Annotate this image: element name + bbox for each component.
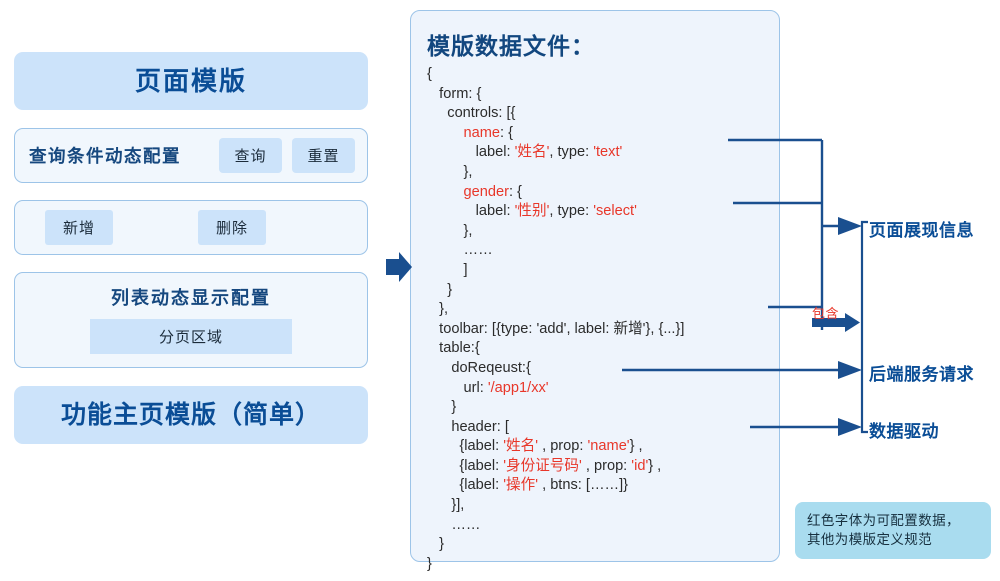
code-line: } (427, 398, 779, 418)
code-line: …… (427, 516, 779, 536)
diagram-canvas: 页面模版 查询条件动态配置 查询 重置 新增 删除 列表动态显示配置 分页区域 … (0, 0, 1000, 581)
toolbar-card: 新增 删除 (14, 200, 368, 255)
flow-block-arrow-icon (386, 252, 412, 282)
code-line: url: '/app1/xx' (427, 379, 779, 399)
arrow-head-display-info-icon (838, 217, 862, 235)
code-line: } (427, 555, 779, 575)
page-template-mockup: 页面模版 查询条件动态配置 查询 重置 新增 删除 列表动态显示配置 分页区域 … (14, 52, 368, 444)
code-line: } (427, 535, 779, 555)
code-line: {label: '姓名' , prop: 'name'} , (427, 437, 779, 457)
delete-button[interactable]: 删除 (198, 210, 266, 245)
code-line: }, (427, 300, 779, 320)
code-line: doReqeust:{ (427, 359, 779, 379)
code-line: …… (427, 241, 779, 261)
legend-note: 红色字体为可配置数据， 其他为模版定义规范 (795, 502, 991, 559)
arrow-head-backend-request-icon (838, 361, 862, 379)
legend-note-line1: 红色字体为可配置数据， (807, 511, 981, 530)
list-config-title: 列表动态显示配置 (15, 284, 367, 310)
query-config-card: 查询条件动态配置 查询 重置 (14, 128, 368, 183)
code-line: }, (427, 222, 779, 242)
code-line: table:{ (427, 339, 779, 359)
code-line: label: '性别', type: 'select' (427, 202, 779, 222)
code-line: header: [ (427, 418, 779, 438)
code-line: label: '姓名', type: 'text' (427, 143, 779, 163)
query-config-title: 查询条件动态配置 (29, 143, 209, 168)
template-data-file-title: 模版数据文件： (427, 27, 779, 61)
annotation-data-driven: 数据驱动 (869, 417, 939, 442)
annotation-display-info: 页面展现信息 (869, 216, 974, 241)
code-line: form: { (427, 85, 779, 105)
contains-label: 包含 (812, 303, 839, 322)
code-line: }, (427, 163, 779, 183)
template-data-file-panel: 模版数据文件： { form: { controls: [{ name: { l… (410, 10, 780, 562)
page-template-header-banner: 页面模版 (14, 52, 368, 110)
code-line: {label: '身份证号码' , prop: 'id'} , (427, 457, 779, 477)
annotation-backend-request: 后端服务请求 (869, 360, 974, 385)
code-line: {label: '操作' , btns: [……]} (427, 476, 779, 496)
template-json-code: { form: { controls: [{ name: { label: '姓… (427, 65, 779, 574)
code-line: ] (427, 261, 779, 281)
code-line: } (427, 281, 779, 301)
arrow-head-data-driven-icon (838, 418, 862, 436)
reset-button[interactable]: 重置 (292, 138, 355, 173)
list-config-card: 列表动态显示配置 分页区域 (14, 272, 368, 368)
grouping-bracket (862, 222, 868, 432)
code-line: toolbar: [{type: 'add', label: 新增'}, {..… (427, 320, 779, 340)
code-line: gender: { (427, 183, 779, 203)
add-button[interactable]: 新增 (45, 210, 113, 245)
code-line: name: { (427, 124, 779, 144)
code-line: controls: [{ (427, 104, 779, 124)
code-line: { (427, 65, 779, 85)
left-column-spacer (14, 368, 368, 386)
legend-note-line2: 其他为模版定义规范 (807, 530, 981, 549)
query-button[interactable]: 查询 (219, 138, 282, 173)
page-template-footer-banner: 功能主页模版（简单） (14, 386, 368, 444)
code-line: }], (427, 496, 779, 516)
pagination-area[interactable]: 分页区域 (90, 319, 292, 354)
